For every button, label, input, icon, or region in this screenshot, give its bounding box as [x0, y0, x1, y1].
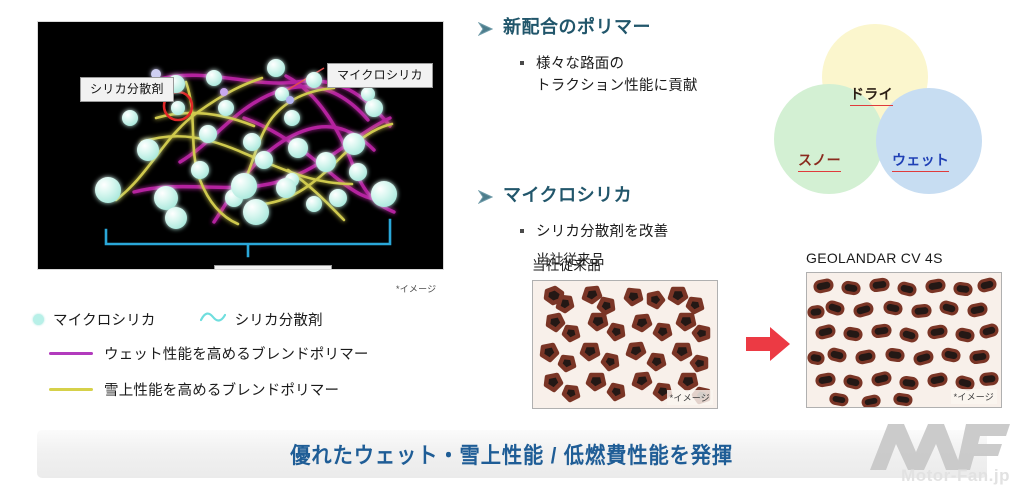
- list-item: 様々な路面の: [520, 53, 698, 75]
- summary-banner: 優れたウェット・雪上性能 / 低燃費性能を発揮: [37, 430, 987, 478]
- callout-silica-dispersant: シリカ分散剤: [80, 77, 174, 102]
- bullet-heading-row: 新配合のポリマー: [478, 18, 698, 41]
- square-bullet-icon: [520, 61, 524, 65]
- bullet-heading-text: マイクロシリカ: [503, 186, 632, 206]
- microstructure-panel: シリカ分散剤 マイクロシリカ ブレンドポリマー: [37, 21, 444, 270]
- micrograph-geolandar: GEOLANDAR CV 4S: [806, 250, 1002, 408]
- snow-polymer-line-icon: [49, 388, 93, 391]
- legend-label-dispersant: シリカ分散剤: [235, 309, 323, 330]
- micrograph-note: *イメージ: [667, 390, 713, 405]
- micro-silica-dot-icon: [33, 314, 44, 325]
- legend: マイクロシリカ シリカ分散剤 ウェット性能を高めるブレンドポリマー 雪上性能を高…: [33, 303, 463, 407]
- micrograph-caption: GEOLANDAR CV 4S: [806, 250, 1002, 266]
- bullet-heading-text: 新配合のポリマー: [503, 18, 651, 38]
- legend-row: ウェット性能を高めるブレンドポリマー: [33, 335, 463, 371]
- square-bullet-icon: [520, 229, 524, 233]
- bullet-heading-row: マイクロシリカ: [478, 186, 668, 209]
- sub-item-text: 様々な路面の: [536, 53, 624, 75]
- microstructure-illustration: [38, 22, 444, 270]
- micrograph-conventional: 当社従来品: [532, 254, 718, 409]
- improvement-arrow-icon: [745, 325, 791, 368]
- legend-label-snow-polymer: 雪上性能を高めるブレンドポリマー: [104, 379, 339, 400]
- bullet-sub-list: 様々な路面の トラクション性能に貢献: [520, 53, 698, 97]
- micrograph-caption: 当社従来品: [532, 254, 718, 274]
- list-item: シリカ分散剤を改善: [520, 221, 668, 243]
- callout-blend-polymer: ブレンドポリマー: [214, 265, 332, 270]
- venn-label-snow: スノー: [798, 150, 841, 172]
- sub-item-text: シリカ分散剤を改善: [536, 221, 668, 243]
- micrograph-image-conventional: *イメージ: [532, 280, 718, 409]
- legend-row: 雪上性能を高めるブレンドポリマー: [33, 371, 463, 407]
- list-item: トラクション性能に貢献: [520, 75, 698, 97]
- summary-banner-text: 優れたウェット・雪上性能 / 低燃費性能を発揮: [291, 438, 734, 470]
- motorfan-watermark-text: Motor-Fan.jp: [901, 466, 1010, 486]
- venn-label-wet: ウェット: [892, 150, 949, 172]
- silica-dispersion-pattern-coarse: [533, 281, 717, 408]
- bullet-sub-list: シリカ分散剤を改善: [520, 221, 668, 243]
- bullet-block-new-polymer: 新配合のポリマー 様々な路面の トラクション性能に貢献: [478, 18, 698, 97]
- callout-micro-silica: マイクロシリカ: [327, 63, 433, 88]
- legend-key-micro-silica: マイクロシリカ: [33, 309, 156, 330]
- legend-label-wet-polymer: ウェット性能を高めるブレンドポリマー: [104, 343, 369, 364]
- wet-polymer-line-icon: [49, 352, 93, 355]
- micrograph-note: *イメージ: [951, 389, 997, 404]
- silica-dispersion-pattern-fine: [807, 273, 1001, 407]
- dispersant-wave-icon: [200, 310, 226, 328]
- legend-label-micro-silica: マイクロシリカ: [53, 309, 156, 330]
- arrow-bullet-icon: [478, 22, 493, 41]
- micrograph-image-geolandar: *イメージ: [806, 272, 1002, 408]
- sub-item-text: トラクション性能に貢献: [536, 75, 698, 97]
- legend-key-dispersant: シリカ分散剤: [200, 309, 323, 330]
- arrow-bullet-icon: [478, 190, 493, 209]
- venn-diagram: ドライ スノー ウェット: [772, 22, 1012, 212]
- legend-row: マイクロシリカ シリカ分散剤: [33, 303, 463, 335]
- venn-label-dry: ドライ: [850, 84, 893, 106]
- image-disclaimer-note: *イメージ: [396, 282, 436, 295]
